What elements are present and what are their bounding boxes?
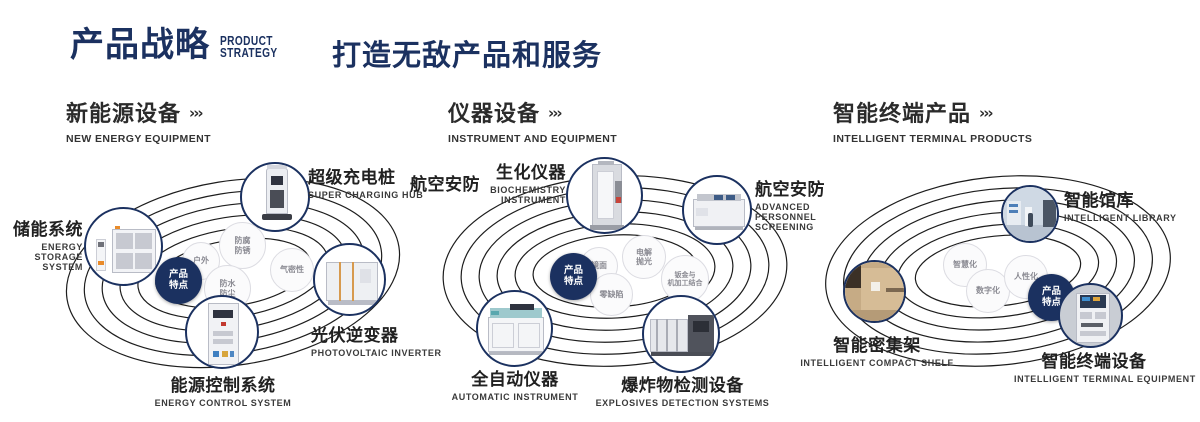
explosives-detection-art	[644, 297, 718, 371]
page-title-block: 产品战略 PRODUCT STRATEGY	[70, 28, 294, 62]
screening-art	[684, 177, 750, 243]
label-intelligent-compact-shelf: 智能密集架 INTELLIGENT COMPACT SHELF	[800, 331, 954, 368]
feature-bubble: 电解抛光	[622, 235, 666, 279]
diagram-instrument: 镜面 电解抛光 零缺陷 钣金与机加工结合 产品特点 航空安防 生化仪器 BIOC…	[430, 155, 800, 395]
label-intelligent-terminal-equipment: 智能终端设备 INTELLIGENT TERMINAL EQUIPMENT	[1014, 347, 1174, 384]
node-advanced-personnel-screening[interactable]	[682, 175, 752, 245]
section-heading-en: NEW ENERGY EQUIPMENT	[66, 133, 211, 145]
diagram-new-energy: 户外 防腐防锈 气密性 防水防尘 产品特点 储能系统 ENERGY STORAG…	[55, 155, 415, 395]
chevron-right-icon: ›››	[189, 104, 202, 122]
label-intelligent-library: 智能馆库 INTELLIGENT LIBRARY	[1064, 186, 1177, 223]
page-slogan: 打造无敌产品和服务	[332, 32, 602, 74]
node-explosives-detection[interactable]	[642, 295, 720, 373]
node-super-charging-hub[interactable]	[240, 162, 310, 232]
section-heading-new-energy: 新能源设备››› NEW ENERGY EQUIPMENT	[66, 96, 211, 145]
page-title-english: PRODUCT STRATEGY	[220, 35, 294, 62]
biochemistry-art	[568, 159, 641, 232]
poster-canvas: 产品战略 PRODUCT STRATEGY 打造无敌产品和服务 新能源设备›››…	[0, 0, 1200, 422]
intelligent-library-art	[1003, 187, 1057, 241]
section-heading-en: INTELLIGENT TERMINAL PRODUCTS	[833, 133, 1032, 145]
page-title-english-line2: STRATEGY	[220, 47, 278, 59]
chevron-right-icon: ›››	[979, 104, 992, 122]
label-automatic-instrument: 全自动仪器 AUTOMATIC INSTRUMENT	[420, 365, 610, 402]
charging-hub-art	[242, 164, 308, 230]
label-super-charging-hub: 超级充电桩 SUPER CHARGING HUB	[308, 163, 423, 200]
node-biochemistry-instrument[interactable]	[566, 157, 643, 234]
terminal-equipment-art	[1060, 285, 1121, 346]
label-biochemistry-instrument: 生化仪器 BIOCHEMISTRY INSTRUMENT	[470, 158, 566, 205]
energy-storage-art	[86, 209, 161, 284]
node-intelligent-terminal-equipment[interactable]	[1058, 283, 1123, 348]
product-feature-badge: 产品特点	[550, 253, 597, 300]
section-heading-instrument: 仪器设备››› INSTRUMENT AND EQUIPMENT	[448, 96, 617, 145]
chevron-right-icon: ›››	[548, 104, 561, 122]
section-heading-cn: 新能源设备›››	[66, 96, 211, 128]
node-energy-control-system[interactable]	[185, 295, 259, 369]
automatic-instrument-art	[478, 292, 551, 365]
compact-shelf-art	[845, 262, 904, 321]
page-title: 产品战略	[70, 28, 210, 62]
pv-inverter-art	[315, 245, 384, 314]
label-photovoltaic-inverter: 光伏逆变器 PHOTOVOLTAIC INVERTER	[311, 321, 442, 358]
node-automatic-instrument[interactable]	[476, 290, 553, 367]
label-energy-control-system: 能源控制系统 ENERGY CONTROL SYSTEM	[113, 371, 333, 408]
label-explosives-detection: 爆炸物检测设备 EXPLOSIVES DETECTION SYSTEMS	[595, 371, 770, 408]
node-intelligent-library[interactable]	[1001, 185, 1059, 243]
node-photovoltaic-inverter[interactable]	[313, 243, 386, 316]
diagram-intelligent-terminal: 智慧化 数字化 人性化 产品特点 智能馆库 INTELLIGENT LIBRAR…	[818, 155, 1193, 395]
section-heading-cn: 仪器设备›››	[448, 96, 617, 128]
energy-control-art	[187, 297, 257, 367]
section-heading-intelligent-terminal: 智能终端产品››› INTELLIGENT TERMINAL PRODUCTS	[833, 96, 1032, 145]
node-energy-storage-system[interactable]	[84, 207, 163, 286]
feature-bubble: 气密性	[270, 248, 314, 292]
node-intelligent-compact-shelf[interactable]	[843, 260, 906, 323]
section-heading-cn: 智能终端产品›››	[833, 96, 1032, 128]
section-heading-en: INSTRUMENT AND EQUIPMENT	[448, 133, 617, 145]
label-energy-storage-system: 储能系统 ENERGY STORAGE SYSTEM	[0, 215, 83, 272]
